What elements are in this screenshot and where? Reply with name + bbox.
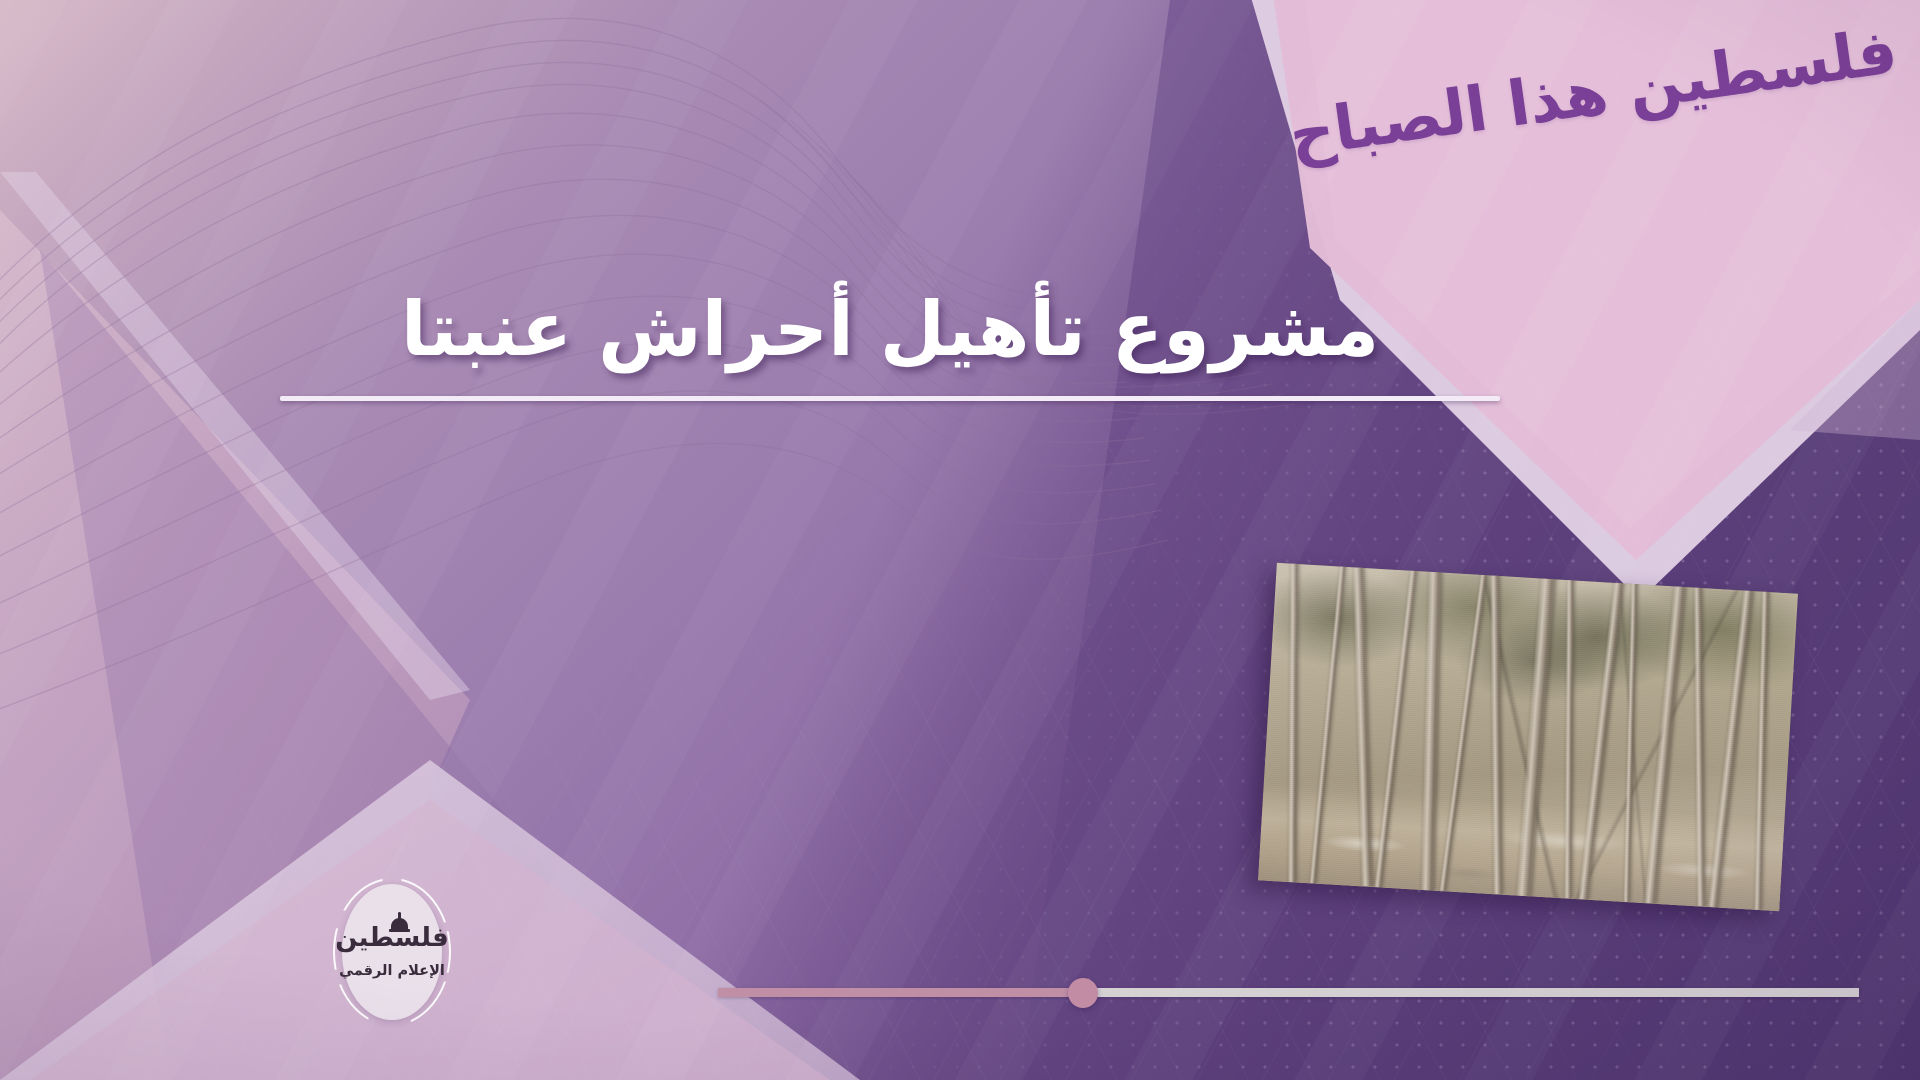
- progress-knob[interactable]: [1068, 978, 1098, 1008]
- photo-color-haze: [1258, 563, 1798, 911]
- logo-tagline: الإعلام الرقمي: [333, 964, 451, 979]
- wave-lines-decoration: [0, 0, 1920, 1080]
- title-card-slide: فلسطين هذا الصباح مشروع تأهيل أحراش عنبت…: [0, 0, 1920, 1080]
- forest-photo: [1258, 563, 1798, 911]
- page-title: مشروع تأهيل أحراش عنبتا: [270, 285, 1510, 374]
- logo-name: فلسطين: [333, 925, 451, 951]
- progress-fill: [718, 988, 1083, 997]
- video-progress-bar[interactable]: [718, 979, 1859, 1005]
- forest-photo-art: [1258, 563, 1798, 911]
- headline-block: مشروع تأهيل أحراش عنبتا: [270, 285, 1510, 401]
- channel-logo[interactable]: فلسطين الإعلام الرقمي: [333, 878, 451, 1026]
- title-underline: [280, 396, 1500, 401]
